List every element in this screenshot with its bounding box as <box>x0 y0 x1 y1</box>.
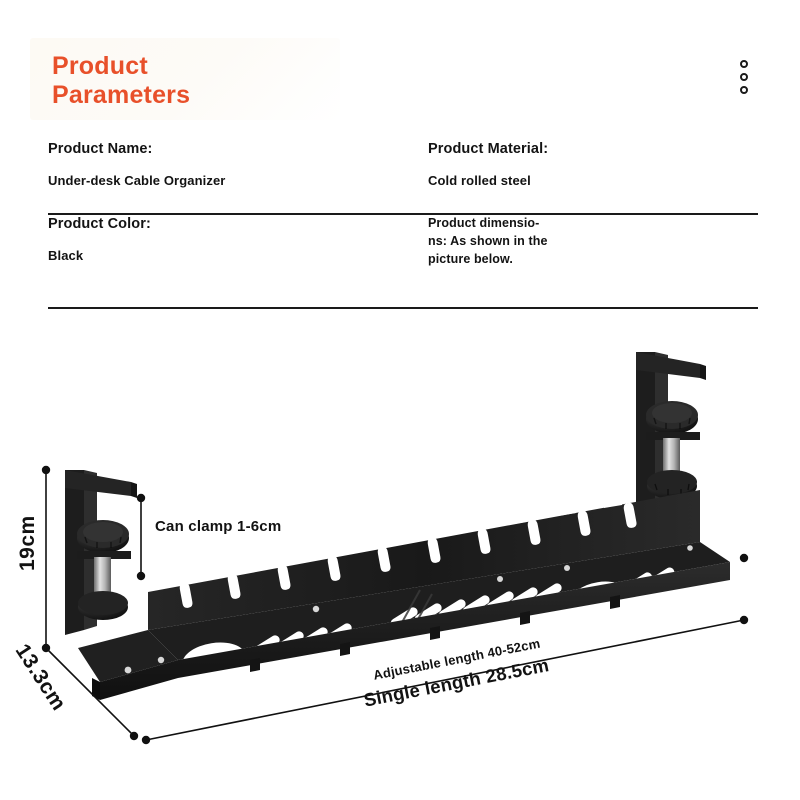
spec-value: Black <box>48 247 428 265</box>
spec-label: Product Name: <box>48 140 428 160</box>
menu-dot-3 <box>740 86 748 94</box>
spec-cell-product-dimensions: Product dimensio- ns: As shown in the pi… <box>428 215 758 268</box>
spec-value: Under-desk Cable Organizer <box>48 172 428 190</box>
spec-cell-product-material: Product Material: Cold rolled steel <box>428 140 758 189</box>
spec-label: Product Material: <box>428 140 758 160</box>
vertical-ellipsis-icon[interactable] <box>740 60 748 94</box>
page-title: Product Parameters <box>52 52 190 110</box>
product-image <box>0 330 800 800</box>
table-divider <box>48 307 758 309</box>
spec-cell-product-name: Product Name: Under-desk Cable Organizer <box>48 140 428 189</box>
cable-tray-illustration <box>0 330 800 800</box>
clamp-left <box>65 470 137 635</box>
product-parameters-page: Product Parameters Product Name: Under-d… <box>0 0 800 800</box>
spec-cell-product-color: Product Color: Black <box>48 215 428 268</box>
spec-value: Cold rolled steel <box>428 172 758 190</box>
menu-dot-1 <box>740 60 748 68</box>
spec-label: Product dimensio- ns: As shown in the pi… <box>428 215 578 268</box>
menu-dot-2 <box>740 73 748 81</box>
table-row: Product Name: Under-desk Cable Organizer… <box>48 140 758 213</box>
dimension-label-clamp-range: Can clamp 1-6cm <box>155 518 281 535</box>
table-row: Product Color: Black Product dimensio- n… <box>48 215 758 307</box>
dimension-label-height: 19cm <box>16 515 40 571</box>
spec-label: Product Color: <box>48 215 428 235</box>
specification-table: Product Name: Under-desk Cable Organizer… <box>48 140 758 309</box>
